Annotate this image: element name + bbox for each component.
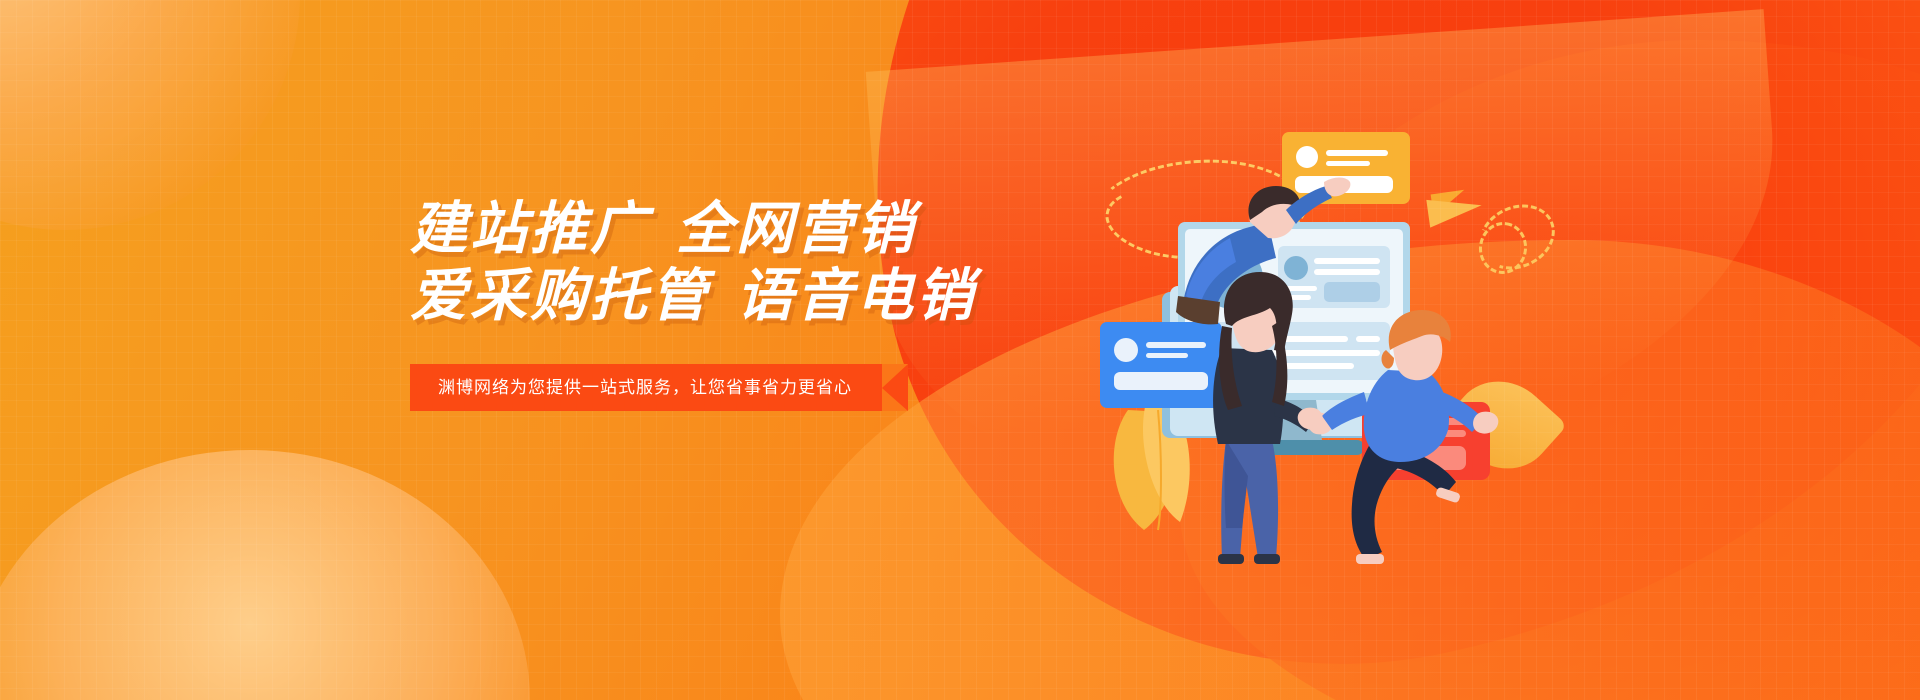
headline-line2-part2: 语音电销 [736,264,976,328]
tagline-ribbon: 渊博网络为您提供一站式服务，让您省事省力更省心 [410,364,908,411]
headline-line1-part2: 全网营销 [676,197,916,261]
hero-illustration [1100,110,1520,580]
headline-line-2: 爱采购托管语音电销 [410,263,976,330]
headline-line1-part1: 建站推广 [410,197,650,261]
headline-line2-part1: 爱采购托管 [410,264,710,328]
headline-line-1: 建站推广全网营销 [410,196,976,263]
illustration-svg [1100,110,1520,580]
bottom-left-glow-circle [0,450,530,700]
copy-block: 建站推广全网营销 爱采购托管语音电销 渊博网络为您提供一站式服务，让您省事省力更… [410,196,976,411]
screen-panel-top-right [1278,246,1390,308]
top-left-glow-circle [0,0,300,230]
tagline-text: 渊博网络为您提供一站式服务，让您省事省力更省心 [438,378,852,397]
blue-profile-card [1100,322,1222,408]
promo-banner: 建站推广全网营销 爱采购托管语音电销 渊博网络为您提供一站式服务，让您省事省力更… [0,0,1920,700]
yellow-profile-card [1282,132,1410,204]
